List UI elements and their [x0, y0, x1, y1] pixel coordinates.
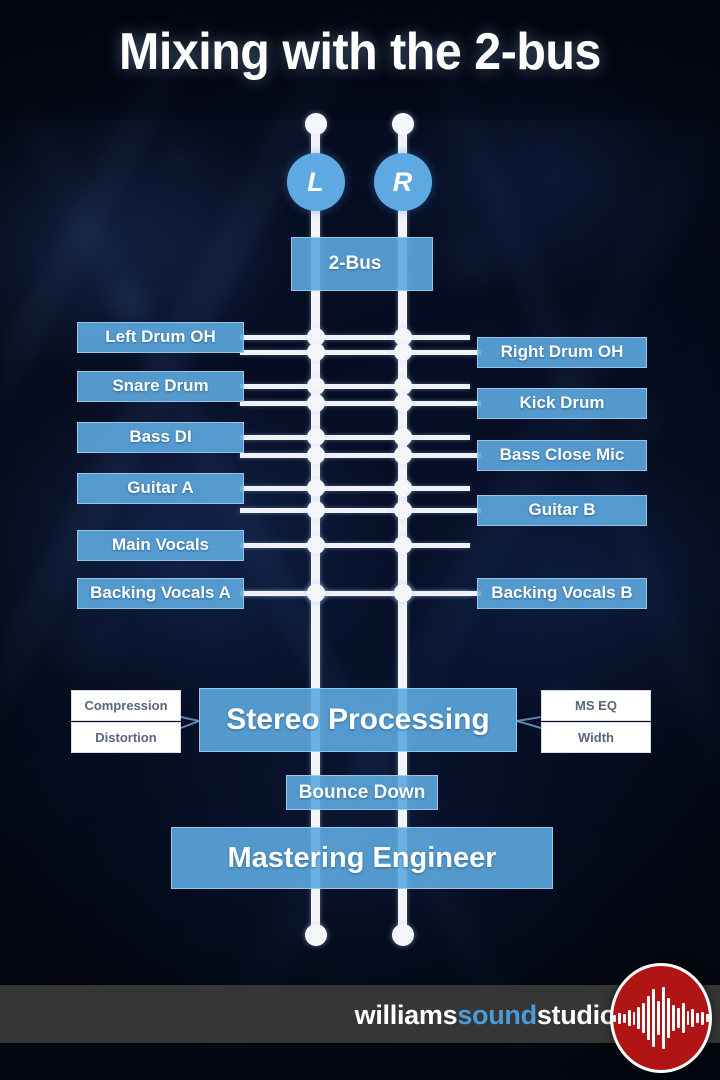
channel-line-right-2 [240, 453, 481, 458]
bus-node-right-4 [394, 536, 412, 554]
bus-node-left-1 [307, 377, 325, 395]
waveform-bar [687, 1011, 690, 1025]
poster-canvas: Mixing with the 2-bus (function(){ const… [0, 0, 720, 1080]
channel-box-right-0-label: Right Drum OH [501, 342, 624, 362]
channel-line-right-0 [240, 350, 481, 355]
channel-line-left-2 [240, 435, 470, 440]
lr-circle-left: L [287, 153, 345, 211]
processing-option-right-0[interactable]: MS EQ [541, 690, 651, 721]
bus-node-right-3 [394, 479, 412, 497]
bus-node-right-6 [394, 343, 412, 361]
processing-option-left-0[interactable]: Compression [71, 690, 181, 721]
channel-box-left-3-label: Guitar A [127, 478, 193, 498]
bus-node-left-10 [307, 584, 325, 602]
waveform-logo-icon[interactable] [610, 963, 712, 1073]
waveform-bar [647, 996, 650, 1040]
channel-line-right-3 [240, 508, 481, 513]
channel-box-left-2[interactable]: Bass DI [77, 422, 244, 453]
lr-circle-right: R [374, 153, 432, 211]
bus-node-right-2 [394, 428, 412, 446]
page-title: Mixing with the 2-bus [25, 22, 695, 82]
bus-node-left-9 [307, 501, 325, 519]
lr-circle-left-text: L [307, 167, 324, 198]
bus-top-node-left [305, 113, 327, 135]
stereo-processing-box[interactable]: Stereo Processing [199, 688, 517, 752]
channel-line-left-1 [240, 384, 470, 389]
bus-top-node-right [392, 113, 414, 135]
brand-part-williams: williams [355, 1000, 458, 1030]
two-bus-box[interactable]: 2-Bus [291, 237, 433, 291]
channel-box-left-0[interactable]: Left Drum OH [77, 322, 244, 353]
mastering-engineer-box-label: Mastering Engineer [227, 842, 496, 875]
channel-box-right-0[interactable]: Right Drum OH [477, 337, 647, 368]
bus-node-right-10 [394, 584, 412, 602]
bus-bottom-node-left [305, 924, 327, 946]
brand-wordmark: williamssoundstudio [355, 1000, 616, 1031]
waveform-bar [623, 1014, 626, 1023]
brand-part-studio: studio [537, 1000, 616, 1030]
bus-node-right-7 [394, 394, 412, 412]
bus-node-left-7 [307, 394, 325, 412]
bus-node-left-6 [307, 343, 325, 361]
channel-box-right-2-label: Bass Close Mic [500, 445, 625, 465]
processing-option-right-1[interactable]: Width [541, 722, 651, 753]
waveform-bar [618, 1013, 621, 1024]
bus-bottom-node-right [392, 924, 414, 946]
channel-line-right-4 [240, 591, 481, 596]
channel-line-right-1 [240, 401, 481, 406]
mastering-engineer-box[interactable]: Mastering Engineer [171, 827, 553, 889]
waveform-bar [613, 1015, 616, 1022]
processing-option-right-1-label: Width [578, 730, 614, 745]
waveform-bar [667, 998, 670, 1038]
waveform-bar [701, 1012, 704, 1025]
channel-box-right-2[interactable]: Bass Close Mic [477, 440, 647, 471]
waveform-bar [637, 1007, 640, 1029]
bounce-down-box-label: Bounce Down [299, 782, 426, 804]
waveform-bar [706, 1014, 709, 1022]
bus-node-right-9 [394, 501, 412, 519]
channel-box-right-1[interactable]: Kick Drum [477, 388, 647, 419]
channel-box-left-5[interactable]: Backing Vocals A [77, 578, 244, 609]
waveform-bar [672, 1005, 675, 1031]
two-bus-box-label: 2-Bus [329, 253, 382, 275]
bus-node-left-4 [307, 536, 325, 554]
channel-box-left-3[interactable]: Guitar A [77, 473, 244, 504]
processing-option-left-0-label: Compression [84, 698, 167, 713]
bus-node-right-1 [394, 377, 412, 395]
waveform-bar [662, 987, 665, 1049]
channel-line-left-3 [240, 486, 470, 491]
waveform-bar [652, 989, 655, 1047]
waveform-bar [691, 1009, 694, 1027]
channel-box-left-0-label: Left Drum OH [105, 327, 216, 347]
channel-box-right-3-label: Guitar B [528, 500, 595, 520]
channel-box-right-4-label: Backing Vocals B [491, 583, 632, 603]
brand-part-sound: sound [457, 1000, 537, 1030]
channel-box-left-4-label: Main Vocals [112, 535, 209, 555]
lr-circle-right-text: R [393, 167, 413, 198]
waveform-bar [677, 1008, 680, 1028]
waveform-bar [642, 1003, 645, 1033]
waveform-bar [696, 1013, 699, 1023]
processing-option-right-0-label: MS EQ [575, 698, 617, 713]
channel-line-left-0 [240, 335, 470, 340]
channel-box-left-1-label: Snare Drum [112, 376, 208, 396]
bounce-down-box[interactable]: Bounce Down [286, 775, 438, 810]
bus-node-right-8 [394, 446, 412, 464]
bus-node-left-3 [307, 479, 325, 497]
channel-box-right-4[interactable]: Backing Vocals B [477, 578, 647, 609]
bus-node-left-2 [307, 428, 325, 446]
processing-option-left-1-label: Distortion [95, 730, 156, 745]
channel-line-left-4 [240, 543, 470, 548]
channel-box-right-1-label: Kick Drum [519, 393, 604, 413]
stereo-processing-box-label: Stereo Processing [226, 703, 489, 737]
bus-node-left-8 [307, 446, 325, 464]
channel-box-left-5-label: Backing Vocals A [90, 583, 231, 603]
waveform-bar [633, 1012, 636, 1025]
channel-box-left-2-label: Bass DI [129, 427, 191, 447]
channel-box-right-3[interactable]: Guitar B [477, 495, 647, 526]
waveform-bar [657, 1001, 660, 1035]
waveform-bar [628, 1010, 631, 1026]
processing-option-left-1[interactable]: Distortion [71, 722, 181, 753]
waveform-bar [682, 1003, 685, 1033]
channel-box-left-1[interactable]: Snare Drum [77, 371, 244, 402]
channel-box-left-4[interactable]: Main Vocals [77, 530, 244, 561]
